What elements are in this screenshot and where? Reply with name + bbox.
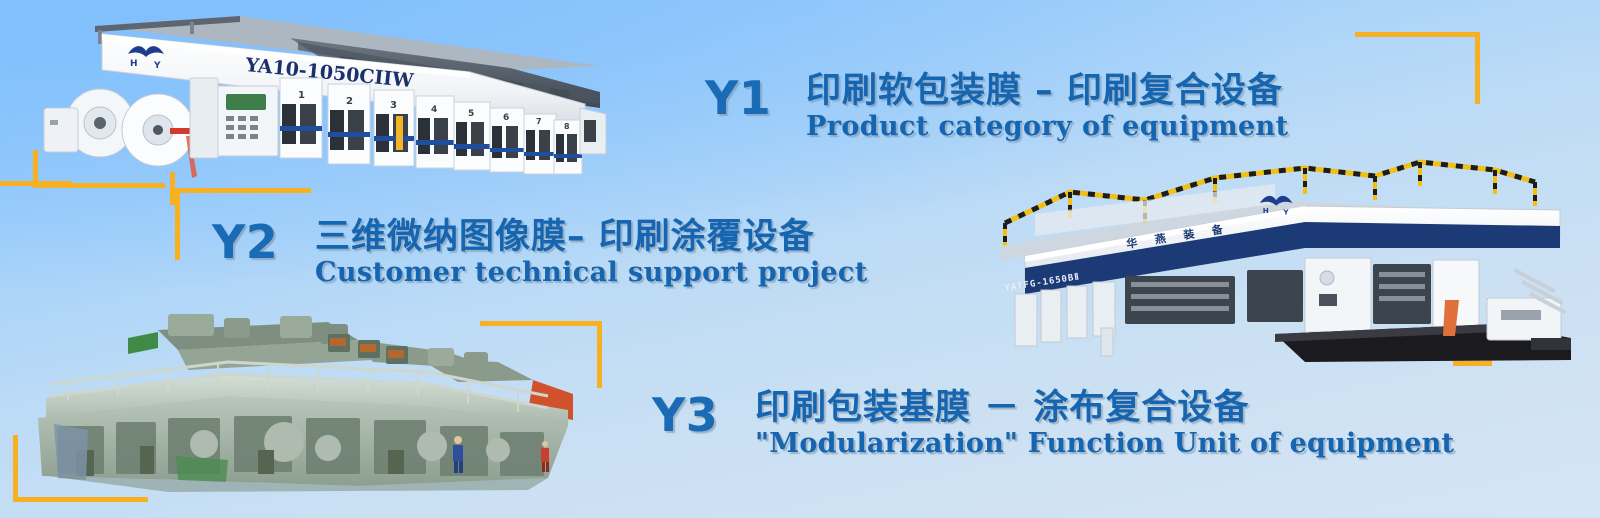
svg-text:Y: Y (1282, 208, 1289, 217)
bracket-top-right-horizontal (1355, 32, 1480, 37)
svg-text:3: 3 (390, 100, 397, 111)
svg-text:7: 7 (536, 117, 542, 126)
entry-chinese-y2: 三维微纳图像膜– 印刷涂覆设备 (315, 208, 868, 259)
bracket-upper-left-vertical (33, 150, 38, 183)
entry-code-y2: Y2 (212, 215, 278, 269)
svg-text:1: 1 (298, 90, 305, 101)
svg-text:2: 2 (346, 96, 353, 107)
bracket-top-right-vertical (1475, 32, 1480, 104)
machine-rotogravure-printing-press: H Y YA10-1050CIIW (40, 8, 610, 178)
entry-text-y1: 印刷软包装膜 – 印刷复合设备 Product category of equi… (806, 62, 1288, 142)
product-banner: H Y YA10-1050CIIW (0, 0, 1600, 518)
entry-code-y1: Y1 (705, 71, 771, 125)
entry-chinese-y3: 印刷包装基膜 － 涂布复合设备 (755, 379, 1454, 430)
bracket-y2-vertical (175, 188, 180, 260)
machine-dry-lamination-coating: H Y 华 燕 装 备 YATFG-1650BⅡ (975, 148, 1575, 373)
entry-code-y3: Y3 (652, 388, 718, 442)
entry-text-y3: 印刷包装基膜 － 涂布复合设备 "Modularization" Functio… (755, 379, 1454, 459)
bracket-upper-left-lower-horizontal (33, 183, 165, 188)
bracket-bottom-left-horizontal (13, 497, 148, 502)
entry-english-y3: "Modularization" Function Unit of equipm… (755, 428, 1454, 459)
svg-text:8: 8 (564, 122, 570, 131)
svg-text:H: H (130, 59, 138, 69)
bracket-y3-vertical (597, 321, 602, 388)
entry-english-y2: Customer technical support project (315, 257, 868, 288)
svg-text:6: 6 (503, 113, 509, 123)
svg-text:H: H (1263, 206, 1269, 215)
svg-text:5: 5 (468, 109, 474, 119)
entry-text-y2: 三维微纳图像膜– 印刷涂覆设备 Customer technical suppo… (315, 208, 868, 288)
entry-english-y1: Product category of equipment (806, 111, 1288, 142)
bracket-y2-horizontal (175, 188, 311, 193)
svg-text:Y: Y (153, 61, 161, 71)
machine-base-film-coating-line (28, 300, 588, 495)
bracket-bottom-left-vertical (13, 435, 18, 502)
entry-chinese-y1: 印刷软包装膜 – 印刷复合设备 (806, 62, 1288, 113)
svg-text:4: 4 (431, 105, 437, 115)
